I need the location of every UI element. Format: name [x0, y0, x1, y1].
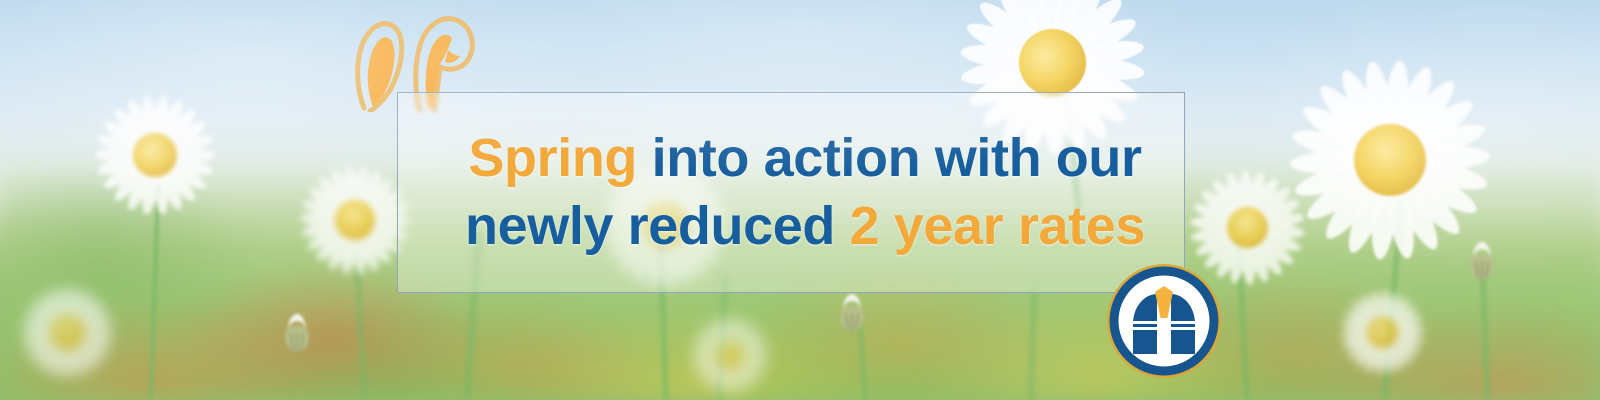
bud-center [830, 290, 874, 336]
daisy-right-large [1280, 50, 1500, 270]
spring-promotion-banner: Spring into action with our newly reduce… [0, 0, 1600, 400]
brand-logo[interactable] [1105, 262, 1223, 380]
daisy-far-right [1332, 282, 1433, 383]
daisy-left-mid [87, 87, 223, 223]
headline-frame [397, 92, 1185, 293]
daisy-bottom-center [690, 315, 770, 395]
bud-right [1460, 238, 1504, 284]
daisy-bottom-left [17, 282, 118, 383]
bud-center-left [275, 310, 319, 356]
